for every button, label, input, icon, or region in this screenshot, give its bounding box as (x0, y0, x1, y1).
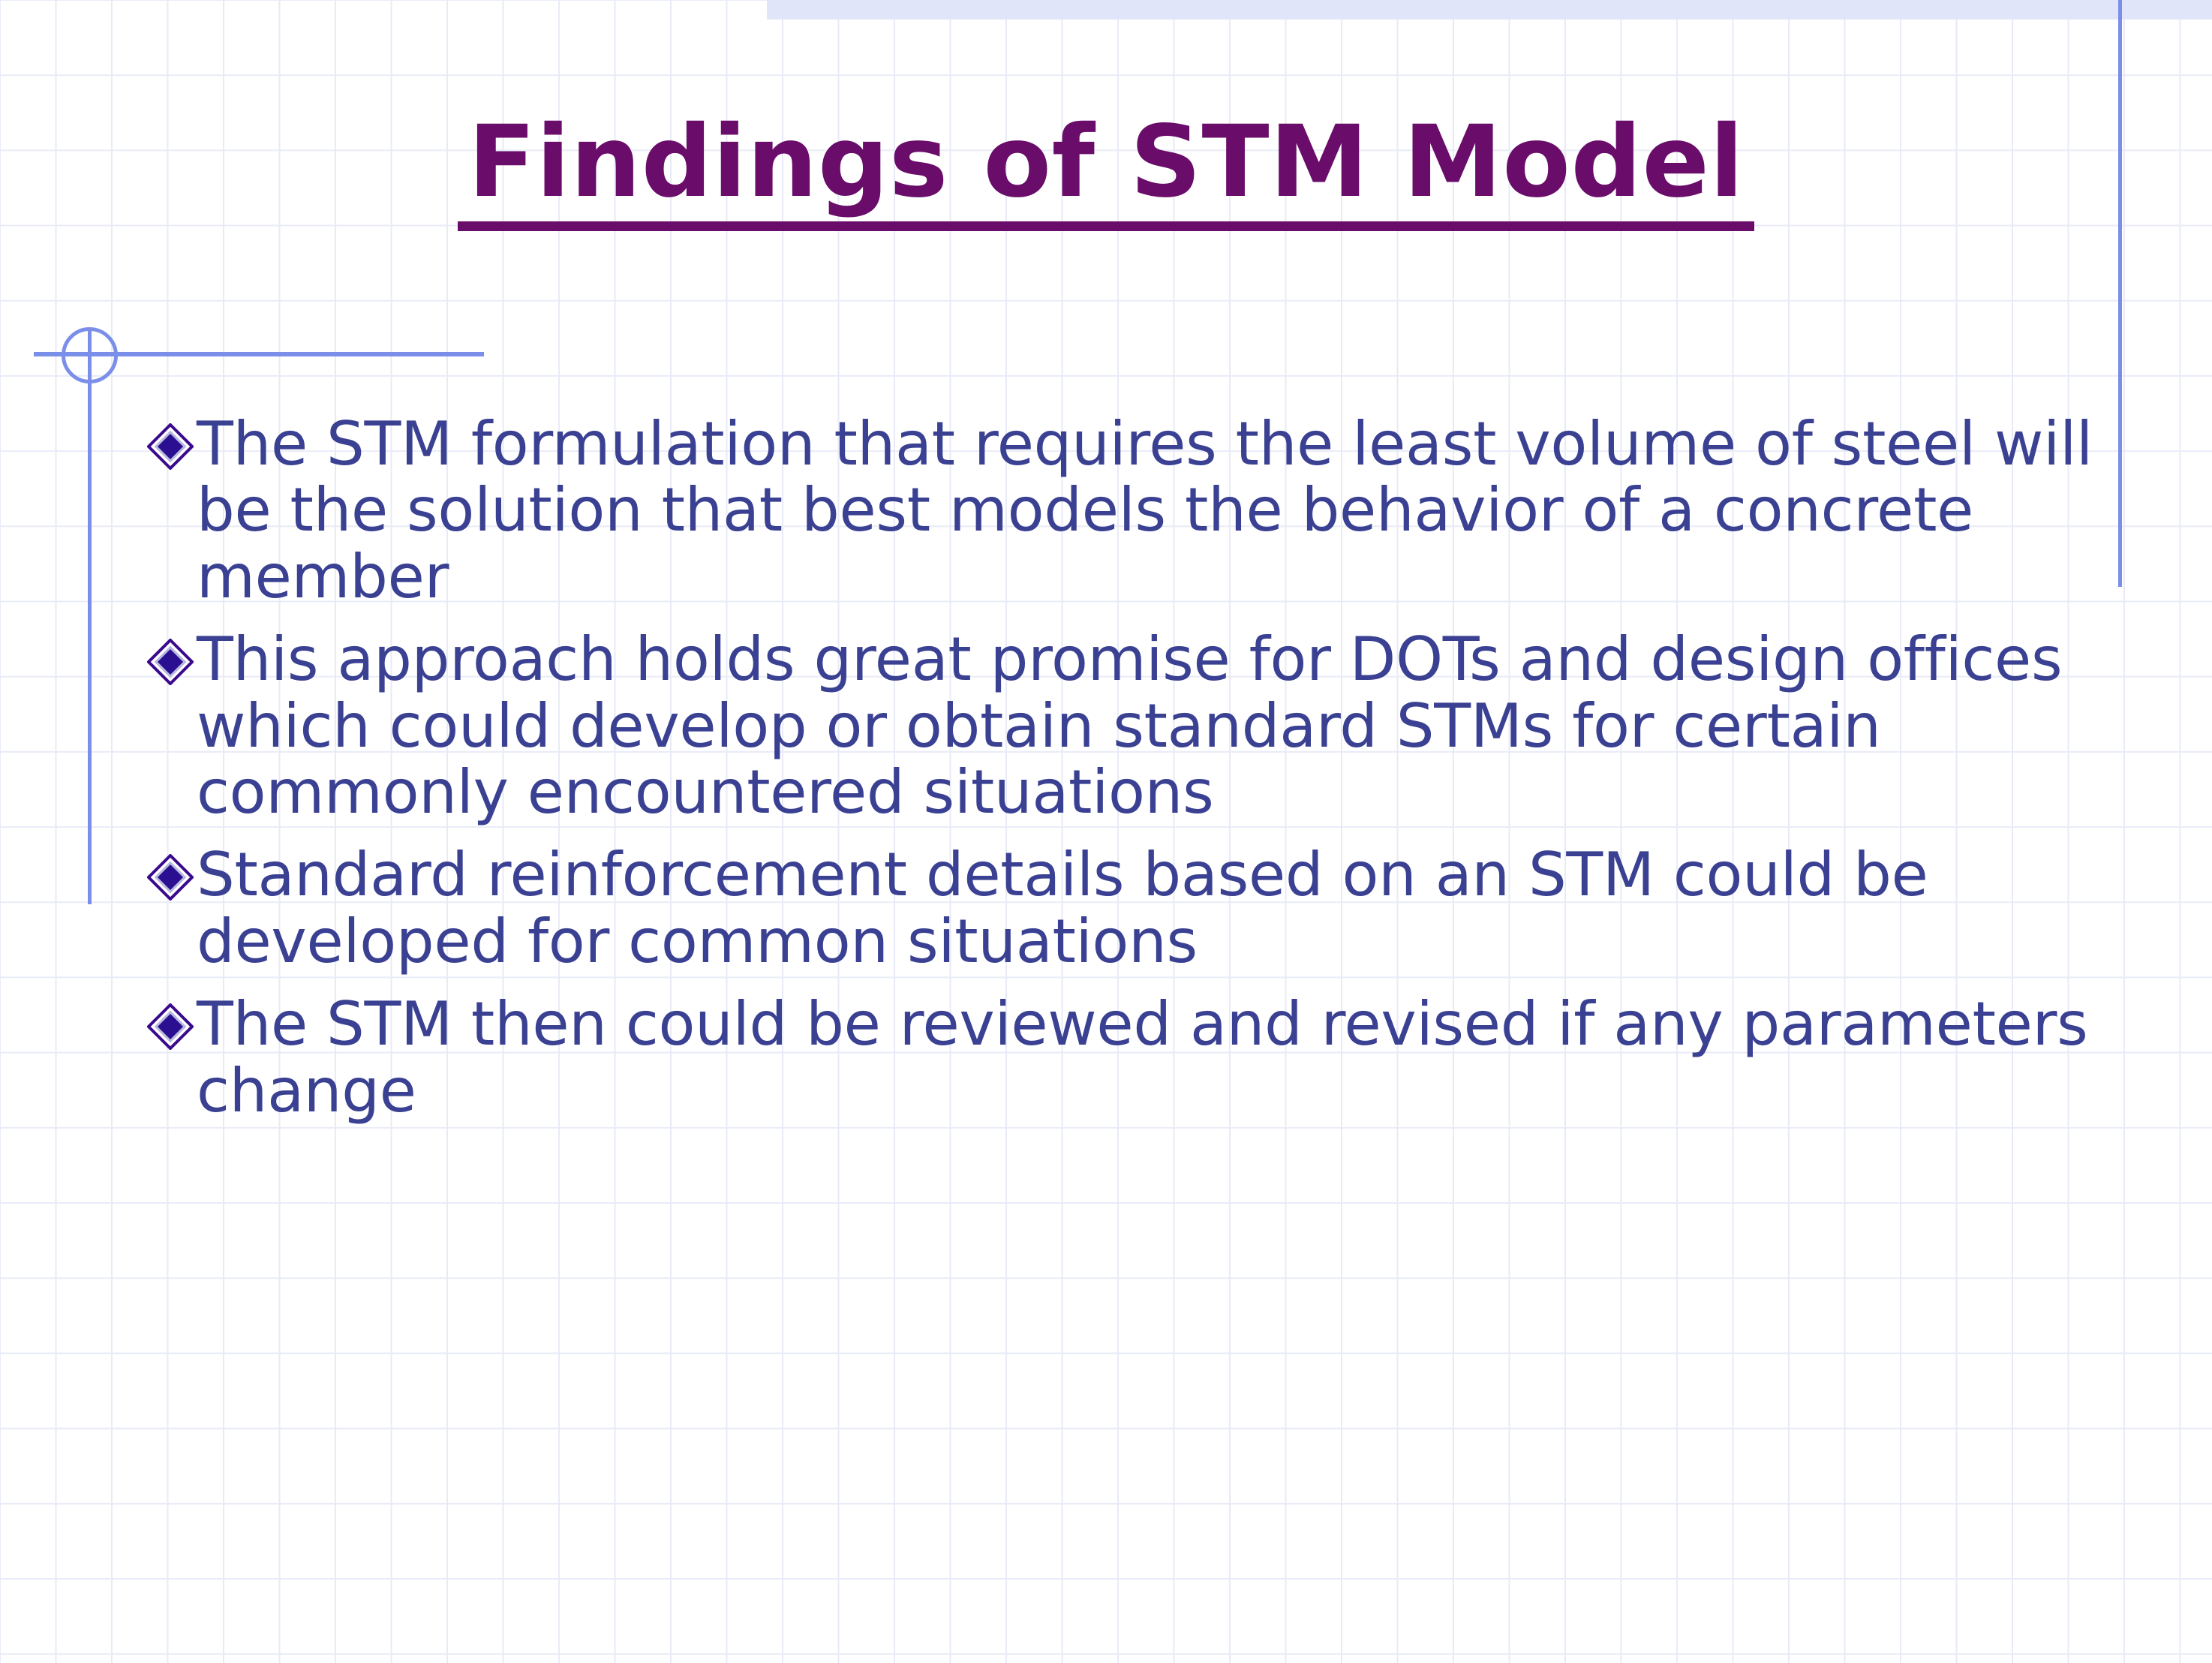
diamond-bullet-icon (147, 842, 194, 907)
diamond-bullet-icon (147, 991, 194, 1056)
list-item: This approach holds great promise for DO… (147, 627, 2098, 825)
slide-canvas: Findings of STM Model The STM formulatio… (0, 0, 2212, 1663)
right-vertical-accent-line (2118, 0, 2122, 587)
list-item-text: The STM then could be reviewed and revis… (197, 991, 2098, 1124)
bullet-list: The STM formulation that requires the le… (147, 411, 2098, 1141)
decorative-circle-icon (62, 327, 118, 383)
diamond-bullet-icon (147, 627, 194, 691)
page-title: Findings of STM Model (458, 111, 1754, 231)
decorative-vertical-line (88, 330, 92, 904)
top-accent-band (767, 0, 2212, 20)
list-item: Standard reinforcement details based on … (147, 842, 2098, 975)
list-item: The STM formulation that requires the le… (147, 411, 2098, 610)
list-item: The STM then could be reviewed and revis… (147, 991, 2098, 1124)
title-area: Findings of STM Model (0, 111, 2212, 231)
list-item-text: Standard reinforcement details based on … (197, 842, 2098, 975)
list-item-text: The STM formulation that requires the le… (197, 411, 2098, 610)
diamond-bullet-icon (147, 411, 194, 476)
list-item-text: This approach holds great promise for DO… (197, 627, 2098, 825)
